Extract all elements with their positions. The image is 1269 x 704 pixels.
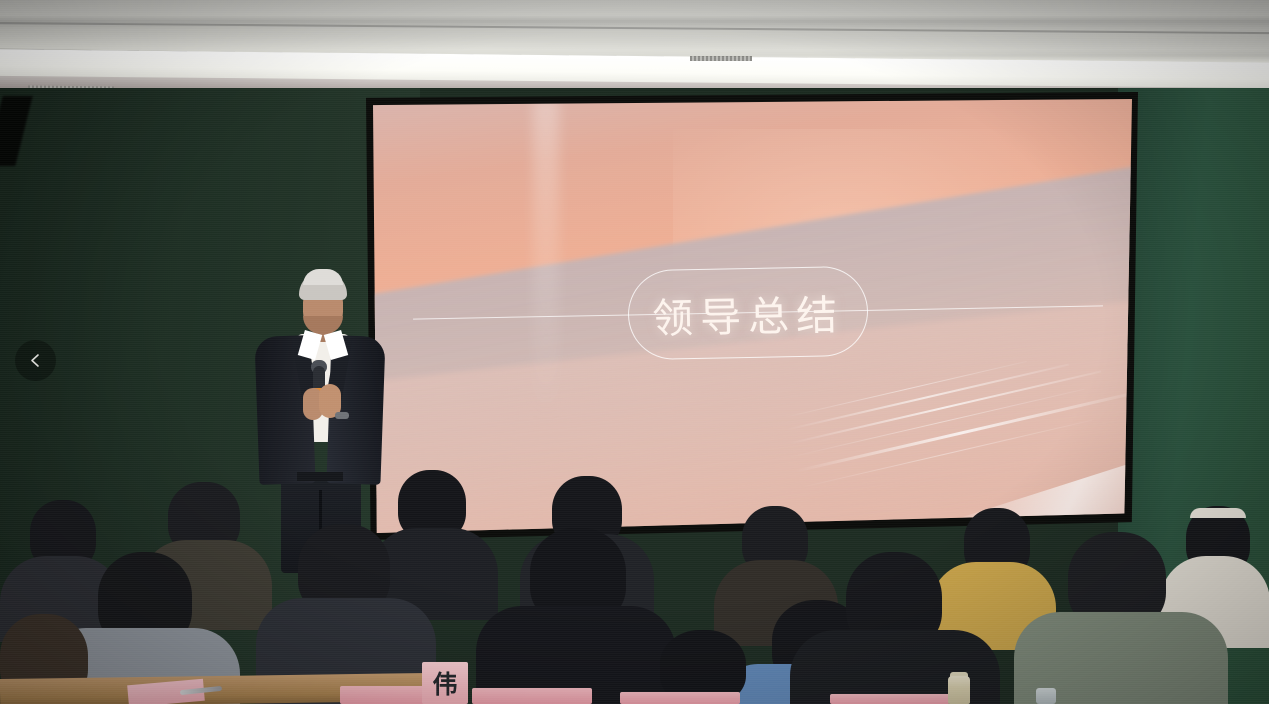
- slide-title-badge: 领导总结: [627, 266, 869, 361]
- presenter-belt: [297, 472, 343, 481]
- water-bottle: [1036, 688, 1056, 704]
- name-placard: [830, 694, 950, 704]
- screen-light-streak: [533, 99, 559, 419]
- water-bottle: [948, 676, 970, 704]
- chevron-left-icon: [27, 352, 44, 369]
- placard-character: 伟: [432, 665, 457, 701]
- presenter-hair-highlight: [303, 269, 343, 285]
- prev-slide-button[interactable]: [15, 340, 56, 381]
- name-placard: [472, 688, 592, 704]
- presenter-watch: [335, 412, 349, 419]
- ceiling-vent: [690, 56, 752, 61]
- headband: [1190, 508, 1246, 518]
- presenter: [251, 272, 386, 572]
- name-placard: [620, 692, 740, 704]
- slide-title: 领导总结: [651, 281, 844, 345]
- ceiling-seam: [0, 22, 1269, 34]
- name-placard-front: 伟: [422, 662, 468, 704]
- screenshot-root: 领导总结: [0, 0, 1269, 704]
- projection-screen: 领导总结: [373, 99, 1132, 533]
